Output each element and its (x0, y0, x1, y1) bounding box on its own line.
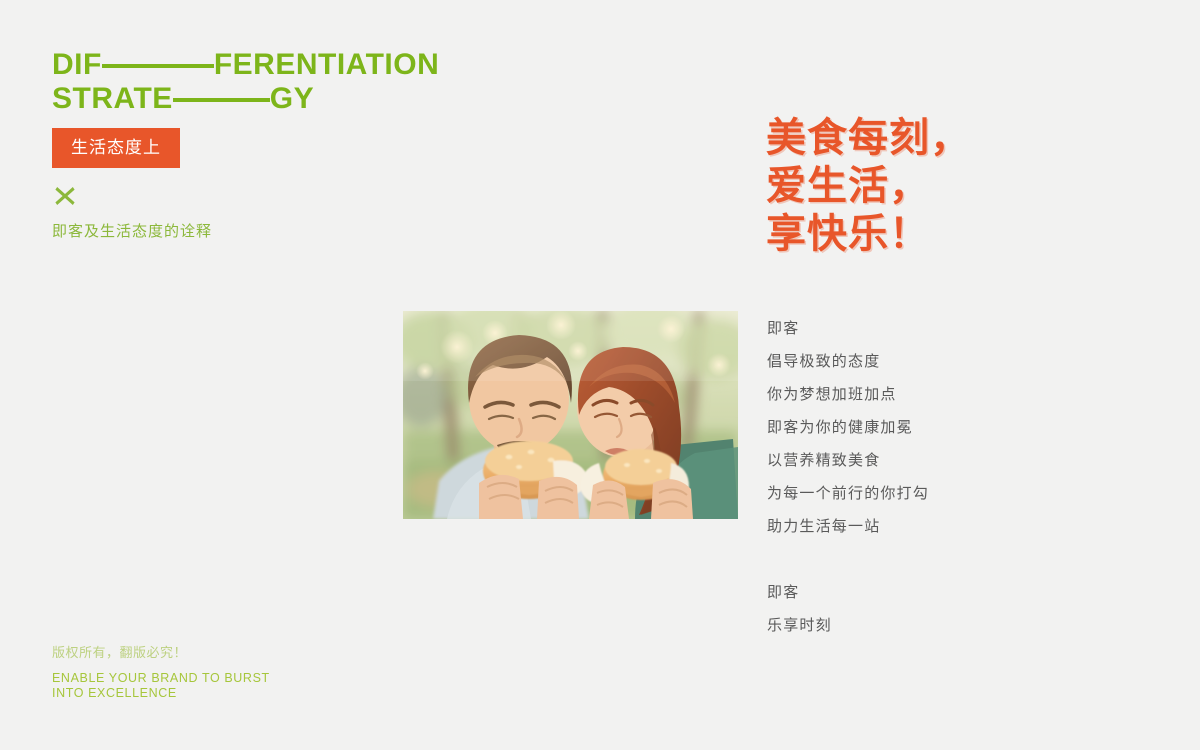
body-line: 助力生活每一站 (767, 510, 1097, 543)
body-line: 倡导极致的态度 (767, 345, 1097, 378)
brand-wordmark: DIF FERENTIATION STRATE GY (52, 48, 472, 116)
brand-wordmark-line-2: STRATE GY (52, 82, 472, 116)
brand-line2-prefix: STRATE (52, 82, 173, 116)
headline-line-1: 美食每刻， (766, 114, 971, 162)
x-cross-icon (54, 185, 76, 207)
brand-line2-suffix: GY (270, 82, 314, 116)
brand-rule-2 (173, 98, 270, 102)
footer-copyright-cn: 版权所有，翻版必究！ (52, 643, 372, 663)
body-line: 即客 (767, 576, 1097, 609)
brand-line1-prefix: DIF (52, 48, 102, 82)
headline-line-3: 享快乐！ (766, 210, 971, 258)
hero-photo (403, 311, 738, 519)
brand-rule-1 (102, 64, 214, 68)
footer-tagline-line-2: INTO EXCELLENCE (52, 686, 372, 701)
headline-line-2: 爱生活， (766, 162, 971, 210)
body-copy: 即客 倡导极致的态度 你为梦想加班加点 即客为你的健康加冕 以营养精致美食 为每… (767, 312, 1097, 642)
section-subtitle: 即客及生活态度的诠释 (52, 220, 212, 241)
body-line: 乐享时刻 (767, 609, 1097, 642)
body-line: 你为梦想加班加点 (767, 378, 1097, 411)
body-copy-spacer (767, 543, 1097, 576)
body-line: 即客 (767, 312, 1097, 345)
footer-tagline-line-1: ENABLE YOUR BRAND TO BURST (52, 671, 372, 686)
body-line: 以营养精致美食 (767, 444, 1097, 477)
brand-line1-suffix: FERENTIATION (214, 48, 439, 82)
poster-canvas: DIF FERENTIATION STRATE GY 生活态度上 即客及生活态度… (0, 0, 1200, 750)
footer: 版权所有，翻版必究！ ENABLE YOUR BRAND TO BURST IN… (52, 643, 372, 701)
page-headline: 美食每刻， 爱生活， 享快乐！ (766, 114, 971, 258)
brand-wordmark-line-1: DIF FERENTIATION (52, 48, 472, 82)
footer-tagline-en: ENABLE YOUR BRAND TO BURST INTO EXCELLEN… (52, 671, 372, 701)
body-line: 即客为你的健康加冕 (767, 411, 1097, 444)
body-line: 为每一个前行的你打勾 (767, 477, 1097, 510)
category-badge[interactable]: 生活态度上 (52, 128, 180, 168)
